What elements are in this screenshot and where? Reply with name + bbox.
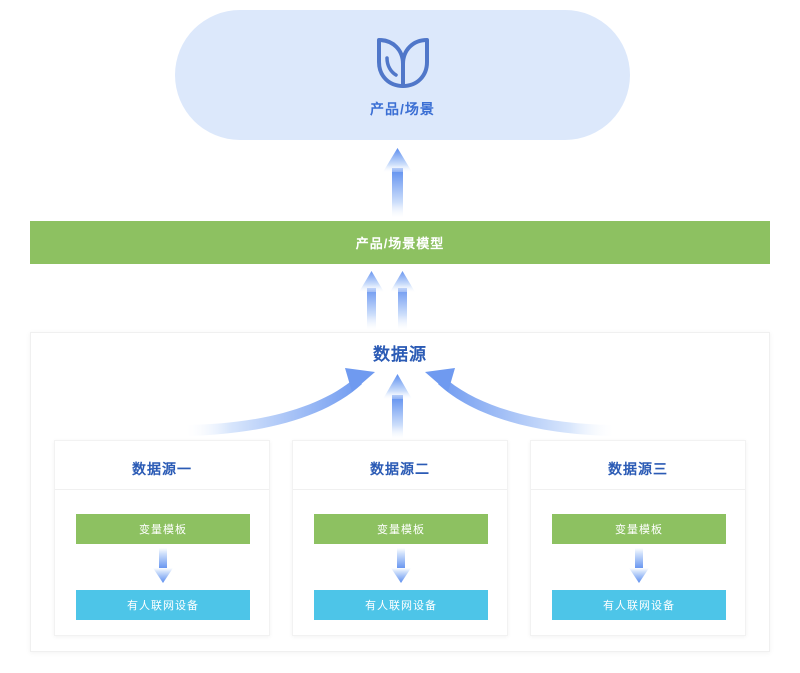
datasource-card[interactable]: 数据源二 变量模板 有人联网设备 — [292, 440, 508, 636]
down-arrow-icon — [149, 548, 177, 584]
connected-device-chip[interactable]: 有人联网设备 — [552, 590, 726, 620]
card-divider — [293, 489, 507, 490]
datasource-card-title: 数据源一 — [55, 459, 269, 479]
datasource-card-title: 数据源三 — [531, 459, 745, 479]
connected-device-label: 有人联网设备 — [365, 597, 437, 613]
down-arrow-icon — [625, 548, 653, 584]
arrow-model-to-product — [383, 148, 412, 218]
product-scene-label: 产品/场景 — [370, 102, 435, 116]
leaf-sprout-icon — [371, 34, 435, 90]
connected-device-label: 有人联网设备 — [127, 597, 199, 613]
variable-template-chip[interactable]: 变量模板 — [552, 514, 726, 544]
variable-template-chip[interactable]: 变量模板 — [76, 514, 250, 544]
product-scene-pill[interactable]: 产品/场景 — [175, 10, 630, 140]
product-scene-model-bar[interactable]: 产品/场景模型 — [30, 221, 770, 264]
datasource-card[interactable]: 数据源三 变量模板 有人联网设备 — [530, 440, 746, 636]
arrow-datasource-to-model-left — [359, 271, 384, 330]
arrow-datasource-to-model-right — [390, 271, 415, 330]
datasource-card-title: 数据源二 — [293, 459, 507, 479]
connected-device-chip[interactable]: 有人联网设备 — [76, 590, 250, 620]
connected-device-chip[interactable]: 有人联网设备 — [314, 590, 488, 620]
datasource-card[interactable]: 数据源一 变量模板 有人联网设备 — [54, 440, 270, 636]
datasource-title: 数据源 — [0, 340, 800, 365]
variable-template-label: 变量模板 — [615, 521, 663, 537]
variable-template-label: 变量模板 — [377, 521, 425, 537]
architecture-diagram: 产品/场景 产品/场景模型 数据源 数据源一 变量模板 — [0, 0, 800, 673]
product-scene-model-label: 产品/场景模型 — [356, 233, 445, 252]
card-divider — [531, 489, 745, 490]
variable-template-label: 变量模板 — [139, 521, 187, 537]
variable-template-chip[interactable]: 变量模板 — [314, 514, 488, 544]
down-arrow-icon — [387, 548, 415, 584]
datasource-card-row: 数据源一 变量模板 有人联网设备 数据源二 — [54, 440, 746, 636]
card-divider — [55, 489, 269, 490]
connected-device-label: 有人联网设备 — [603, 597, 675, 613]
